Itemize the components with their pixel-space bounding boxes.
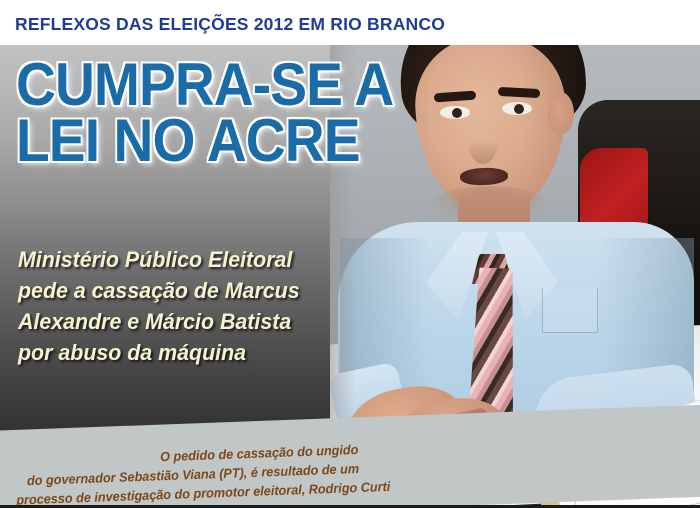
subject-eye-right [502,102,532,115]
kicker-text: REFLEXOS DAS ELEIÇÕES 2012 EM RIO BRANCO [15,14,445,35]
headline-line-2: LEI NO ACRE [16,113,393,169]
headline-line-1: CUMPRA-SE A [16,57,393,113]
subtitle-line-4: por abuso da máquina [18,337,332,368]
subtitle-line-2: pede a cassação de Marcus [18,275,332,306]
subject-eye-left [440,106,470,119]
subject-ear [548,92,574,134]
photo-caption: O pedido de cassação do ungido do govern… [15,440,361,508]
subtitle-line-3: Alexandre e Márcio Batista [18,306,332,337]
pupil-right [514,104,524,114]
subtitle: Ministério Público Eleitoral pede a cass… [18,244,332,368]
subtitle-line-1: Ministério Público Eleitoral [18,244,332,275]
pupil-left [452,108,462,118]
headline: CUMPRA-SE A LEI NO ACRE [16,57,393,169]
news-poster: REFLEXOS DAS ELEIÇÕES 2012 EM RIO BRANCO… [0,0,700,508]
shirt-pocket [542,288,598,333]
subject-nose [468,118,498,164]
